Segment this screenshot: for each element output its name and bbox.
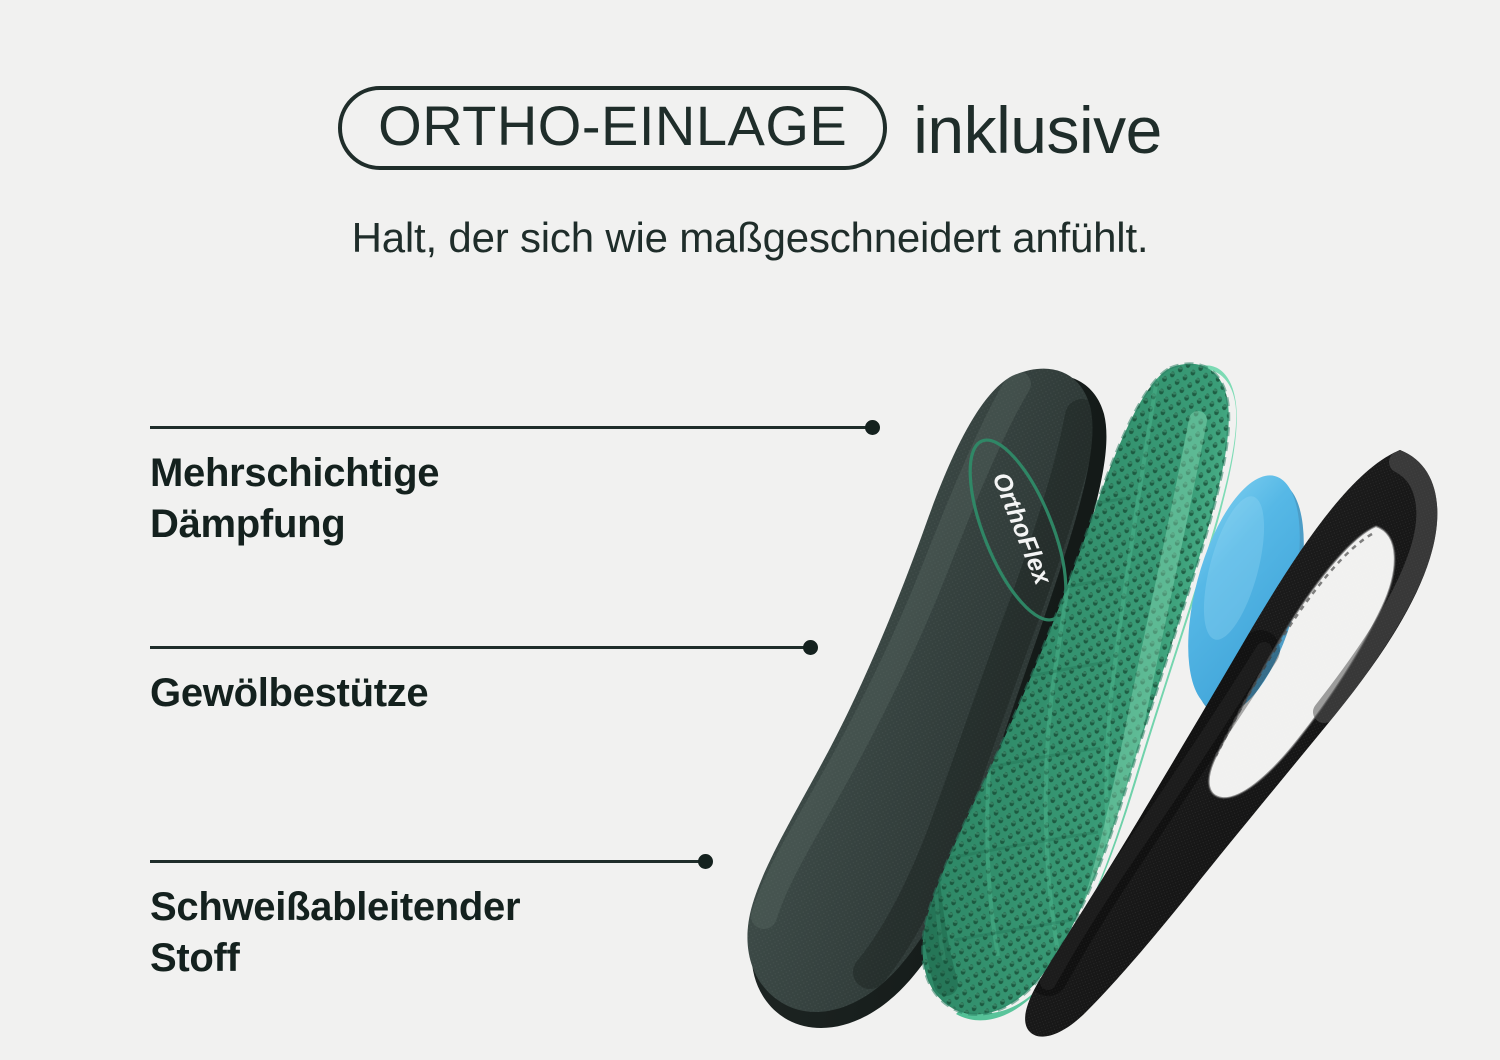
headline-suffix: inklusive [913, 97, 1162, 163]
leader-line [150, 640, 428, 654]
subtitle: Halt, der sich wie maßgeschneidert anfüh… [0, 214, 1500, 262]
feature-label: Schweißableitender Stoff [150, 882, 520, 984]
feature-callout-schweissableitender-stoff: Schweißableitender Stoff [150, 854, 520, 984]
promo-banner: ORTHO-EINLAGE inklusive Halt, der sich w… [0, 0, 1500, 1060]
feature-label: Gewölbestütze [150, 668, 428, 719]
feature-callout-gewoelbestuetze: Gewölbestütze [150, 640, 428, 719]
feature-callout-mehrschichtige-daempfung: Mehrschichtige Dämpfung [150, 420, 439, 550]
badge-label: ORTHO-EINLAGE [378, 98, 847, 154]
ortho-einlage-badge: ORTHO-EINLAGE [338, 86, 887, 170]
feature-label: Mehrschichtige Dämpfung [150, 448, 439, 550]
headline: ORTHO-EINLAGE inklusive [0, 86, 1500, 170]
leader-line [150, 420, 439, 434]
leader-line-stroke [150, 860, 705, 863]
insole-exploded-view: OrthoFlex [700, 320, 1500, 1060]
leader-line [150, 854, 520, 868]
